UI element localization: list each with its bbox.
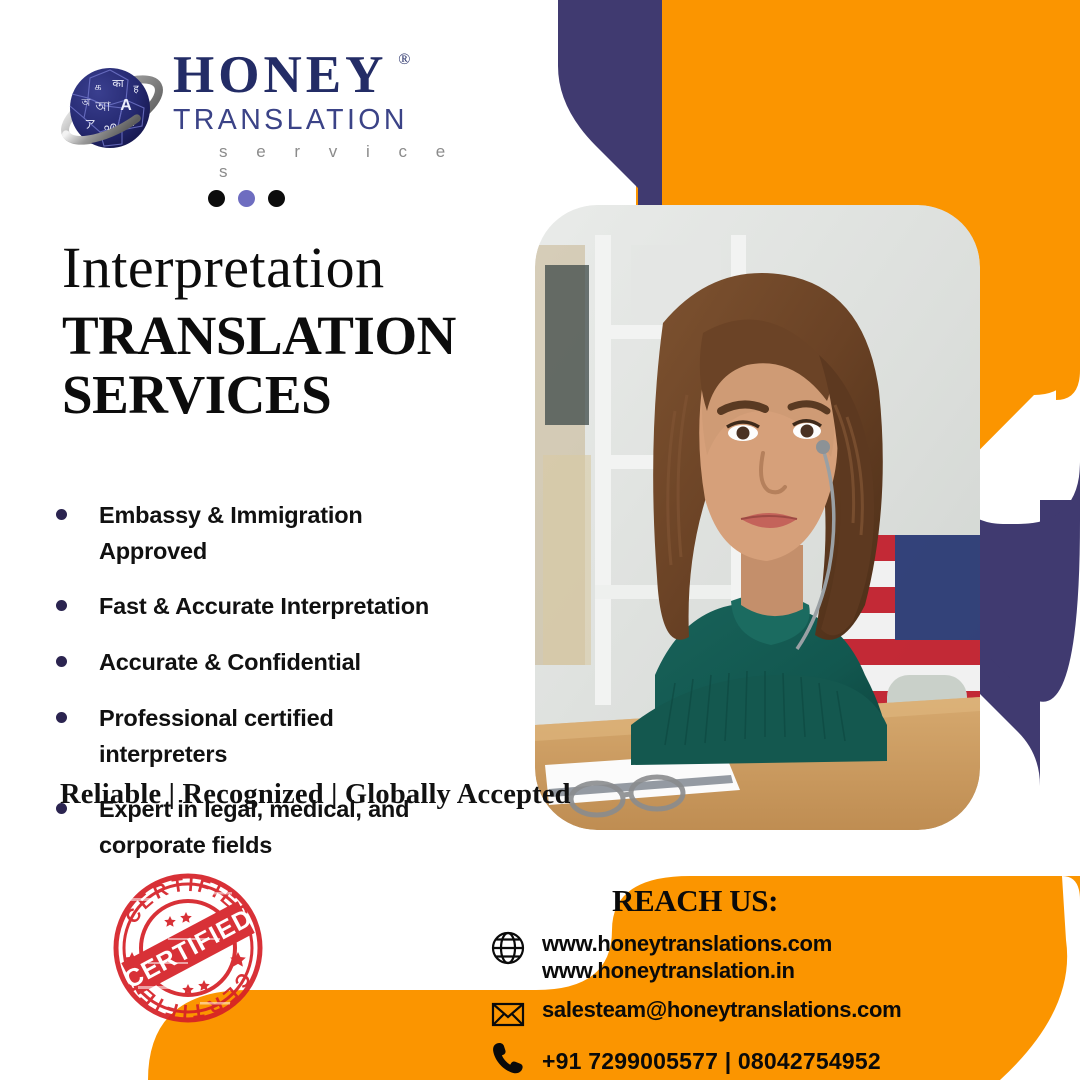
list-item-label: Fast & Accurate Interpretation bbox=[99, 589, 429, 625]
headline-bold-line-1: TRANSLATION bbox=[62, 304, 532, 369]
svg-text:ア: ア bbox=[85, 119, 96, 131]
brand-logo[interactable]: க का ह অ আ A ア എ ਪ HONEY® TRANSLATION s … bbox=[58, 48, 418, 173]
list-item: Professional certified interpreters bbox=[56, 701, 526, 772]
email-address[interactable]: salesteam@honeytranslations.com bbox=[542, 994, 901, 1024]
phone-numbers[interactable]: +91 7299005577 | 08042754952 bbox=[542, 1038, 881, 1075]
list-item-label: Embassy & Immigration Approved bbox=[99, 498, 459, 569]
bullet-dot-icon bbox=[56, 656, 67, 667]
contact-panel-title: REACH US: bbox=[612, 883, 778, 919]
list-item: Accurate & Confidential bbox=[56, 645, 526, 681]
contact-row-website: www.honeytranslations.com www.honeytrans… bbox=[488, 928, 1068, 985]
headline-script-line: Interpretation bbox=[62, 238, 532, 298]
decorative-dots bbox=[208, 190, 285, 207]
list-item-label: Professional certified interpreters bbox=[99, 701, 459, 772]
logo-line-translation: TRANSLATION bbox=[173, 104, 473, 137]
svg-text:অ: অ bbox=[81, 98, 91, 109]
logo-line-services: s e r v i c e s bbox=[173, 142, 473, 182]
logo-name-text: HONEY bbox=[173, 46, 387, 104]
dot-1 bbox=[208, 190, 225, 207]
tagline: Reliable | Recognized | Globally Accepte… bbox=[60, 779, 571, 811]
interpreter-photo bbox=[535, 205, 980, 830]
phone-icon bbox=[488, 1038, 528, 1078]
svg-text:க: க bbox=[94, 81, 101, 93]
bullet-dot-icon bbox=[56, 712, 67, 723]
interpreter-photo-illustration bbox=[535, 205, 980, 830]
feature-list: Embassy & Immigration Approved Fast & Ac… bbox=[56, 498, 526, 884]
contact-panel: REACH US: www.honeytranslations.com www.… bbox=[470, 876, 1070, 1081]
poster-canvas: க का ह অ আ A ア എ ਪ HONEY® TRANSLATION s … bbox=[0, 0, 1080, 1080]
svg-text:আ: আ bbox=[94, 99, 111, 114]
website-line-1[interactable]: www.honeytranslations.com bbox=[542, 931, 832, 958]
list-item-label: Accurate & Confidential bbox=[99, 645, 361, 681]
certified-stamp: CERTIFIED CERTIFIED CERTIFIED bbox=[108, 868, 268, 1028]
dot-3 bbox=[268, 190, 285, 207]
dot-2 bbox=[238, 190, 255, 207]
globe-languages-icon: க का ह অ আ A ア എ ਪ bbox=[58, 56, 166, 164]
logo-wordmark: HONEY® TRANSLATION s e r v i c e s bbox=[173, 48, 473, 182]
svg-text:A: A bbox=[120, 97, 132, 114]
list-item: Fast & Accurate Interpretation bbox=[56, 589, 526, 625]
bullet-dot-icon bbox=[56, 509, 67, 520]
svg-text:का: का bbox=[112, 78, 123, 90]
envelope-icon bbox=[488, 994, 528, 1034]
contact-list: www.honeytranslations.com www.honeytrans… bbox=[488, 928, 1068, 1087]
bullet-dot-icon bbox=[56, 600, 67, 611]
contact-row-email: salesteam@honeytranslations.com bbox=[488, 994, 1068, 1034]
contact-row-phone: +91 7299005577 | 08042754952 bbox=[488, 1038, 1068, 1078]
website-lines[interactable]: www.honeytranslations.com www.honeytrans… bbox=[542, 928, 832, 985]
globe-icon bbox=[488, 928, 528, 968]
svg-text:ह: ह bbox=[133, 84, 139, 95]
list-item: Embassy & Immigration Approved bbox=[56, 498, 526, 569]
registered-mark-icon: ® bbox=[398, 52, 410, 68]
logo-name: HONEY® bbox=[173, 48, 387, 102]
website-line-2[interactable]: www.honeytranslation.in bbox=[542, 958, 832, 985]
headline-bold-line-2: SERVICES bbox=[62, 363, 532, 428]
page-title: Interpretation TRANSLATION SERVICES bbox=[62, 238, 532, 428]
